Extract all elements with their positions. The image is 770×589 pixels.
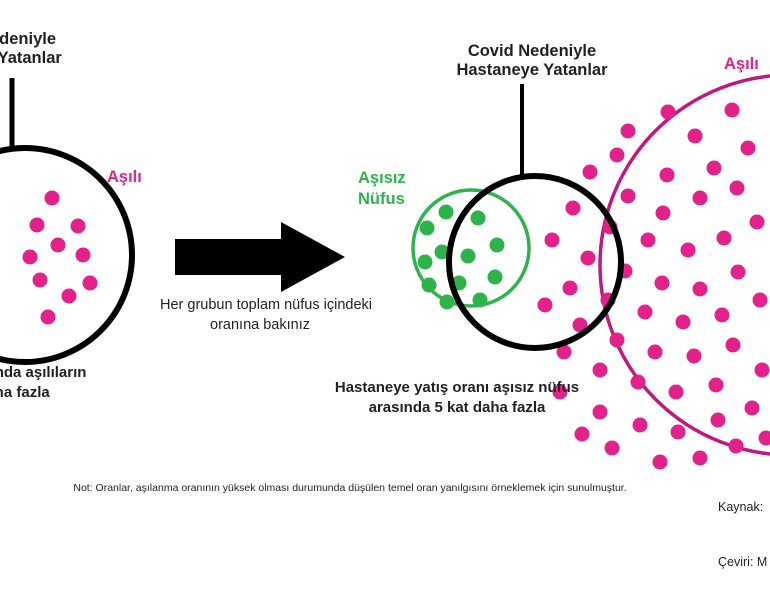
vaccinated-dot <box>51 238 66 253</box>
credit-block: Kaynak: Çeviri: M <box>718 462 767 589</box>
right-panel-title: Covid Nedeniyle Hastaneye Yatanlar <box>432 42 632 81</box>
vaccinated-dot <box>725 103 740 118</box>
vaccinated-dot <box>731 265 746 280</box>
arrow-caption: Her grubun toplam nüfus içindeki oranına… <box>160 296 360 335</box>
footer-note: Not: Oranlar, aşılanma oranının yüksek o… <box>0 482 700 494</box>
unvaccinated-dot <box>461 249 476 264</box>
infographic-canvas <box>0 0 770 515</box>
vaccinated-dot <box>621 189 636 204</box>
vaccinated-dot <box>669 385 684 400</box>
translator-label: Çeviri: M <box>718 553 767 571</box>
vaccinated-dot <box>655 276 670 291</box>
vaccinated-dot <box>693 191 708 206</box>
source-label: Kaynak: <box>718 498 767 516</box>
vaccinated-dot <box>23 250 38 265</box>
vaccinated-dot <box>656 206 671 221</box>
vaccinated-dot <box>631 375 646 390</box>
vaccinated-dot <box>717 231 732 246</box>
vaccinated-dot <box>676 315 691 330</box>
vaccinated-dot <box>711 413 726 428</box>
vaccinated-dot <box>750 215 765 230</box>
vaccinated-dot <box>688 129 703 144</box>
vaccinated-dot <box>693 282 708 297</box>
vaccinated-dot <box>76 248 91 263</box>
vaccinated-dot <box>581 251 596 266</box>
vaccinated-dot <box>605 441 620 456</box>
vaccinated-dot <box>538 298 553 313</box>
vaccinated-dot <box>71 219 86 234</box>
unvaccinated-population-label: Aşısız Nüfus <box>358 168 432 211</box>
vaccinated-dot <box>62 289 77 304</box>
right-vaccinated-label: Aşılı <box>724 55 759 74</box>
vaccinated-dot <box>610 148 625 163</box>
vaccinated-dot <box>709 378 724 393</box>
unvaccinated-dot <box>473 293 488 308</box>
vaccinated-dot <box>563 281 578 296</box>
vaccinated-dot <box>45 191 60 206</box>
vaccinated-dot <box>681 243 696 258</box>
vaccinated-dot <box>633 418 648 433</box>
left-panel-title: edeniyle e Yatanlar <box>0 30 108 69</box>
right-panel-caption: Hastaneye yatış oranı aşısız nüfus arası… <box>312 378 602 419</box>
vaccinated-dot <box>726 338 741 353</box>
vaccinated-dot <box>545 233 560 248</box>
vaccinated-dot <box>741 141 756 156</box>
left-panel-caption: nlar arasında aşılıların lardan daha faz… <box>0 363 178 404</box>
vaccinated-dot <box>593 363 608 378</box>
vaccinated-dot <box>707 161 722 176</box>
vaccinated-dot <box>83 276 98 291</box>
vaccinated-dot <box>693 451 708 466</box>
vaccinated-dot <box>745 401 760 416</box>
unvaccinated-dot <box>422 278 437 293</box>
vaccinated-dot <box>638 305 653 320</box>
vaccinated-dot <box>687 349 702 364</box>
vaccinated-dot <box>566 201 581 216</box>
vaccinated-dot <box>729 439 744 454</box>
unvaccinated-dot <box>418 255 433 270</box>
vaccinated-dot <box>583 165 598 180</box>
left-vaccinated-label: Aşılı <box>107 168 142 187</box>
unvaccinated-dot <box>420 221 435 236</box>
unvaccinated-dot <box>488 270 503 285</box>
right-hospitalized-circle <box>449 176 621 348</box>
vaccinated-dot <box>610 333 625 348</box>
vaccinated-dot <box>641 233 656 248</box>
vaccinated-dot <box>621 124 636 139</box>
vaccinated-dot <box>653 455 668 470</box>
vaccinated-dot <box>730 181 745 196</box>
vaccinated-dot <box>575 427 590 442</box>
unvaccinated-dot <box>440 295 455 310</box>
vaccinated-dot <box>33 273 48 288</box>
vaccinated-dot <box>30 218 45 233</box>
vaccinated-dot <box>41 310 56 325</box>
vaccinated-dot <box>648 345 663 360</box>
unvaccinated-dot <box>471 211 486 226</box>
transition-arrow <box>175 222 345 292</box>
vaccinated-dot <box>671 425 686 440</box>
unvaccinated-dot <box>439 205 454 220</box>
vaccinated-dot <box>715 308 730 323</box>
vaccinated-dot <box>755 363 770 378</box>
left-diagram <box>0 78 132 362</box>
unvaccinated-dot <box>490 238 505 253</box>
vaccinated-dot <box>660 168 675 183</box>
vaccinated-dot <box>661 105 676 120</box>
vaccinated-dot <box>753 293 768 308</box>
